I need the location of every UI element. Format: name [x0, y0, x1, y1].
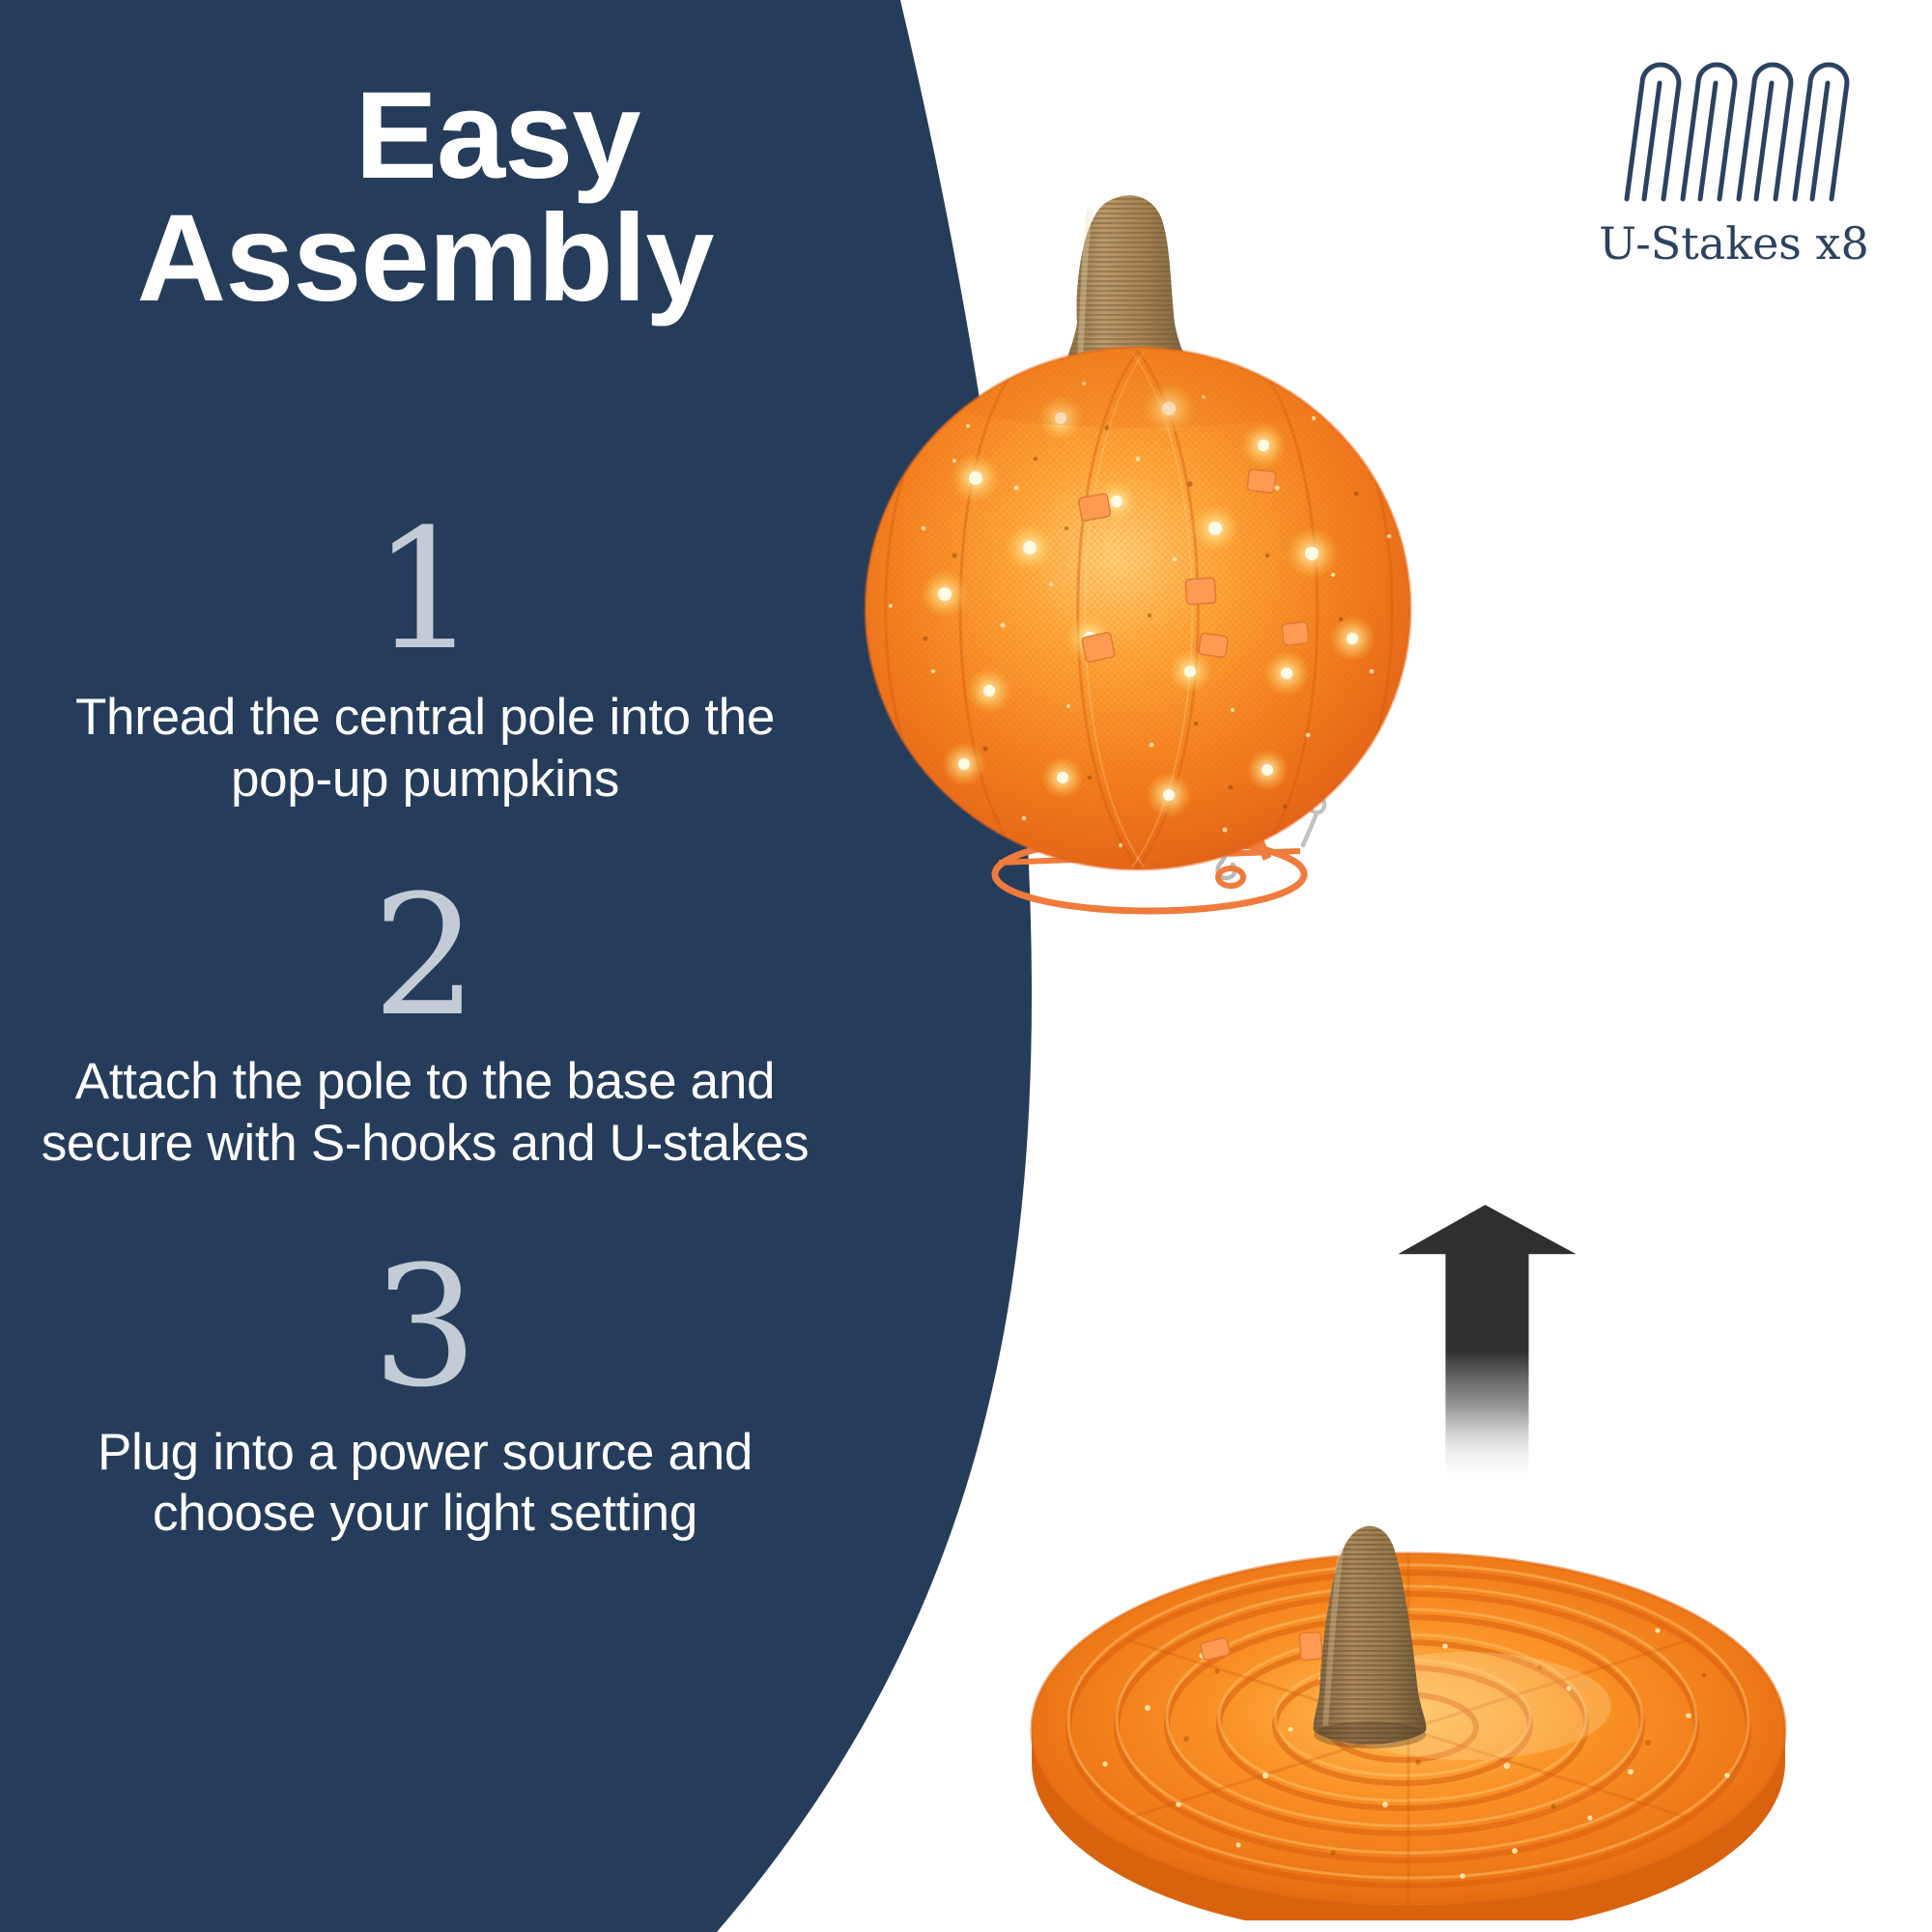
collapsed-pumpkin-illustration	[1012, 1486, 1804, 1920]
instructions-column: Easy Assembly 1 Thread the central pole …	[0, 0, 850, 1932]
step-text-2: Attach the pole to the base and secure w…	[39, 1051, 811, 1174]
step-number-1: 1	[39, 507, 811, 673]
assembly-direction-arrow	[1350, 1190, 1640, 1519]
page-title: Easy Assembly	[68, 75, 782, 320]
assembled-pumpkin-illustration	[831, 169, 1507, 932]
step-number-2: 2	[39, 873, 811, 1039]
step-item-1: 1 Thread the central pole into the pop-u…	[39, 507, 811, 810]
step-text-3: Plug into a power source and choose your…	[39, 1422, 811, 1545]
infographic-canvas: Easy Assembly 1 Thread the central pole …	[0, 0, 1932, 1932]
u-stakes-label: U-Stakes x8	[1594, 217, 1874, 270]
step-number-3: 3	[39, 1244, 811, 1410]
step-item-2: 2 Attach the pole to the base and secure…	[39, 873, 811, 1174]
u-stake-icon	[1613, 44, 1855, 209]
step-item-3: 3 Plug into a power source and choose yo…	[39, 1244, 811, 1545]
headline-line-2: Assembly	[68, 198, 782, 321]
u-stakes-badge: U-Stakes x8	[1594, 44, 1874, 270]
step-text-1: Thread the central pole into the pop-up …	[39, 687, 811, 810]
headline-line-1: Easy	[68, 75, 782, 198]
